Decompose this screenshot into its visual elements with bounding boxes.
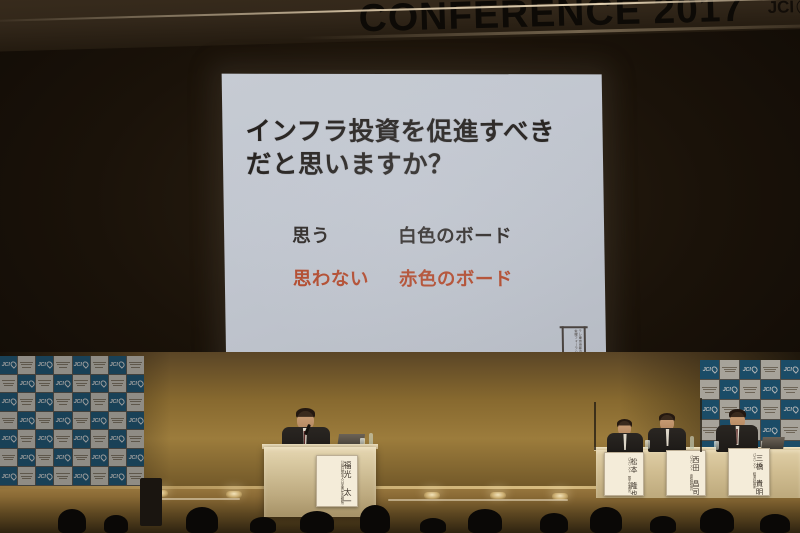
backdrop-tile-jci: JCI <box>700 360 719 379</box>
sponsor-text-lines <box>783 426 798 435</box>
slide-option-row: 思わない 赤色のボード <box>293 265 593 292</box>
jci-pin-icon <box>45 435 53 443</box>
backdrop-tile-jci: JCI <box>0 393 17 411</box>
jci-logo-text: JCI <box>92 455 100 461</box>
jci-logo-small: JCI <box>38 399 52 405</box>
jci-logo-small: JCI <box>783 407 797 413</box>
jci-logo-text: JCI <box>38 399 46 405</box>
jci-pin-icon <box>9 361 17 369</box>
jci-logo-text: JCI <box>763 427 771 433</box>
backdrop-tile-jci: JCI <box>720 380 739 399</box>
jci-pin-icon <box>81 435 89 443</box>
backdrop-tile-jci: JCI <box>109 467 126 485</box>
backdrop-tile-jci: JCI <box>740 360 759 379</box>
jci-logo-small: JCI <box>763 427 777 433</box>
jci-logo-text: JCI <box>56 381 64 387</box>
audience-head <box>700 508 734 533</box>
drinking-glass <box>714 441 719 450</box>
jci-logo-small: JCI <box>110 399 124 405</box>
jci-pin-icon <box>27 453 35 461</box>
backdrop-tile-sponsor <box>761 360 780 379</box>
nameplate-panelist-2: 西田 昌司 パネリスト 参議院議員 <box>666 450 706 496</box>
audience-row <box>0 498 800 533</box>
jci-logo-small: JCI <box>56 454 70 460</box>
backdrop-tile-jci: JCI <box>54 449 71 467</box>
backdrop-tile-sponsor <box>781 380 800 399</box>
backdrop-tile-sponsor <box>700 380 719 399</box>
backdrop-tile-sponsor <box>127 430 144 448</box>
jci-pin-icon <box>118 472 126 480</box>
drinking-glass <box>645 440 650 449</box>
audience-head <box>468 509 502 533</box>
jci-logo-text: JCI <box>743 367 751 373</box>
sponsor-text-lines <box>56 360 69 369</box>
backdrop-tile-jci: JCI <box>127 449 144 467</box>
sponsor-text-lines <box>111 453 124 462</box>
jci-pin-icon <box>770 386 778 394</box>
nameplate-title: パネリスト 国土交通省 <box>626 457 630 492</box>
backdrop-tile-jci: JCI <box>91 412 108 430</box>
jci-logo-text: JCI <box>38 362 46 368</box>
jci-pin-icon <box>99 453 107 461</box>
water-bottle <box>690 436 694 449</box>
jci-pin-icon <box>750 406 758 414</box>
jci-logo-small: JCI <box>19 454 33 460</box>
sponsor-text-lines <box>129 360 142 369</box>
backdrop-tile-jci: JCI <box>761 380 780 399</box>
sponsor-text-lines <box>93 398 106 407</box>
sponsor-text-lines <box>20 472 33 481</box>
jci-logo-small: JCI <box>74 473 88 479</box>
audience-head <box>300 511 334 533</box>
backdrop-tile-jci: JCI <box>127 375 144 393</box>
jci-pin-icon <box>136 379 144 387</box>
option-value-no: 赤色のボード <box>399 265 513 291</box>
slide-option-row: 思う 白色のボード <box>292 222 592 249</box>
jci-pin-icon <box>81 361 89 369</box>
sponsor-text-lines <box>56 435 69 444</box>
backdrop-tile-jci: JCI <box>109 393 126 411</box>
backdrop-tile-sponsor <box>109 449 126 467</box>
sponsor-text-lines <box>93 472 106 481</box>
jci-pin-icon <box>136 453 144 461</box>
slide-question: インフラ投資を促進すべき だと思いますか？ <box>245 116 586 183</box>
sponsor-text-lines <box>56 472 69 481</box>
backdrop-tile-sponsor <box>18 393 35 411</box>
jci-pin-icon <box>118 361 126 369</box>
audience-head <box>420 518 446 533</box>
jci-logo-small: JCI <box>1 473 15 479</box>
backdrop-tile-jci: JCI <box>781 360 800 379</box>
jci-logo-text: JCI <box>110 399 118 405</box>
sponsor-text-lines <box>783 385 798 394</box>
jci-logo-small: JCI <box>702 366 716 372</box>
sponsor-text-lines <box>2 416 15 425</box>
sponsor-text-lines <box>2 453 15 462</box>
jci-logo-text: JCI <box>110 362 118 368</box>
backdrop-tile-jci: JCI <box>781 400 800 419</box>
jci-logo-text: JCI <box>1 399 9 405</box>
sponsor-text-lines <box>74 453 87 462</box>
jci-pin-icon <box>118 435 126 443</box>
jci-pin-icon <box>45 472 53 480</box>
backdrop-tile-sponsor <box>0 449 17 467</box>
backdrop-tile-sponsor <box>0 412 17 430</box>
jci-pin-icon <box>9 435 17 443</box>
jci-logo: JCI <box>767 0 800 18</box>
backdrop-tile-sponsor <box>54 467 71 485</box>
jci-logo-small: JCI <box>1 436 15 442</box>
backdrop-tile-jci: JCI <box>109 430 126 448</box>
backdrop-tile-jci: JCI <box>36 430 53 448</box>
backdrop-tile-jci: JCI <box>0 430 17 448</box>
sponsor-text-lines <box>38 416 51 425</box>
jci-logo-small: JCI <box>92 454 106 460</box>
jci-pin-icon <box>45 398 53 406</box>
jci-pin-icon <box>81 472 89 480</box>
jci-logo-small: JCI <box>110 436 124 442</box>
backdrop-tile-sponsor <box>18 430 35 448</box>
jci-pin-icon <box>791 406 799 414</box>
audience-head <box>360 505 390 533</box>
sponsor-text-lines <box>111 416 124 425</box>
backdrop-tile-jci: JCI <box>36 356 53 374</box>
backdrop-tile-jci: JCI <box>109 356 126 374</box>
audience-head <box>590 507 622 533</box>
sponsor-text-lines <box>93 435 106 444</box>
audience-head <box>540 513 568 533</box>
jci-pin-icon <box>63 416 71 424</box>
jci-logo-text: JCI <box>763 387 771 393</box>
jci-logo-small: JCI <box>1 399 15 405</box>
jci-pin-icon <box>9 472 17 480</box>
jci-pin-icon <box>118 398 126 406</box>
jci-pin-icon <box>730 386 738 394</box>
jci-logo-small: JCI <box>74 436 88 442</box>
screen-surface: インフラ投資を促進すべき だと思いますか？ 思う 白色のボード 思わない 赤色の… <box>222 74 607 375</box>
jci-logo-text: JCI <box>56 418 64 424</box>
jci-pin-icon <box>27 416 35 424</box>
audience-head <box>650 516 676 533</box>
jci-logo-text: JCI <box>56 455 64 461</box>
projection-screen: インフラ投資を促進すべき だと思いますか？ 思う 白色のボード 思わない 赤色の… <box>222 74 607 375</box>
jci-pin-icon <box>770 426 778 434</box>
audience-head <box>186 507 218 533</box>
sponsor-text-lines <box>74 379 87 388</box>
jci-logo-text: JCI <box>74 473 82 479</box>
backdrop-tile-sponsor <box>127 356 144 374</box>
backdrop-tile-sponsor <box>109 375 126 393</box>
jci-logo-text: JCI <box>128 418 136 424</box>
backdrop-tile-sponsor <box>36 412 53 430</box>
nameplate-panelist-1: 松本 隆也 パネリスト 国土交通省 <box>604 452 644 496</box>
backdrop-tile-jci: JCI <box>73 430 90 448</box>
jci-logo-small: JCI <box>56 380 70 386</box>
jci-logo-text: JCI <box>19 418 27 424</box>
jci-logo-text: JCI <box>92 418 100 424</box>
jci-logo-small: JCI <box>128 454 142 460</box>
backdrop-tile-sponsor <box>73 449 90 467</box>
backdrop-tile-jci: JCI <box>700 400 719 419</box>
backdrop-tile-sponsor <box>109 412 126 430</box>
jci-pin-icon <box>99 416 107 424</box>
sponsor-text-lines <box>38 453 51 462</box>
jci-logo-small: JCI <box>763 387 777 393</box>
jci-logo-small: JCI <box>38 362 52 368</box>
slide-question-line2: だと思いますか？ <box>246 149 587 183</box>
jci-logo-small: JCI <box>92 417 106 423</box>
audience-head <box>58 509 86 533</box>
jci-logo-small: JCI <box>110 473 124 479</box>
sponsor-text-lines <box>20 398 33 407</box>
jci-pin-icon <box>81 398 89 406</box>
sponsor-text-lines <box>722 365 737 374</box>
option-label-yes: 思う <box>292 222 398 248</box>
backdrop-tile-jci: JCI <box>0 467 17 485</box>
backdrop-tile-sponsor <box>36 375 53 393</box>
slide-question-line1: インフラ投資を促進すべき <box>245 116 586 150</box>
jci-logo-text: JCI <box>783 367 791 373</box>
backdrop-tile-sponsor <box>18 467 35 485</box>
backdrop-tile-jci: JCI <box>54 412 71 430</box>
sponsor-text-lines <box>763 365 778 374</box>
backdrop-tile-jci: JCI <box>36 393 53 411</box>
sponsor-text-lines <box>20 435 33 444</box>
jci-logo-small: JCI <box>74 362 88 368</box>
option-label-no: 思わない <box>293 265 399 291</box>
jci-logo-small: JCI <box>56 417 70 423</box>
jci-logo-text: JCI <box>702 367 710 373</box>
audience-head <box>104 515 128 533</box>
backdrop-tile-jci: JCI <box>127 412 144 430</box>
sponsor-text-lines <box>129 435 142 444</box>
jci-pin-icon <box>710 365 718 373</box>
slide-content: インフラ投資を促進すべき だと思いますか？ 思う 白色のボード 思わない 赤色の… <box>222 74 607 375</box>
jci-logo-text: JCI <box>92 381 100 387</box>
jci-logo-small: JCI <box>783 366 797 372</box>
backdrop-tile-jci: JCI <box>73 393 90 411</box>
sponsor-text-lines <box>702 385 717 394</box>
jci-logo-text: JCI <box>110 436 118 442</box>
sponsor-text-lines <box>743 385 758 394</box>
sponsor-text-lines <box>129 398 142 407</box>
backdrop-tile-sponsor <box>36 449 53 467</box>
backdrop-tile-jci: JCI <box>91 375 108 393</box>
audience-head <box>250 517 276 533</box>
sponsor-text-lines <box>38 379 51 388</box>
backdrop-tile-sponsor <box>54 393 71 411</box>
backdrop-tile-sponsor <box>91 393 108 411</box>
backdrop-tile-sponsor <box>73 375 90 393</box>
backdrop-tile-sponsor <box>91 356 108 374</box>
jci-logo-small: JCI <box>38 473 52 479</box>
jci-logo-small: JCI <box>19 380 33 386</box>
jci-logo-text: JCI <box>128 455 136 461</box>
jci-pin-icon <box>710 406 718 414</box>
backdrop-tile-sponsor <box>91 430 108 448</box>
jci-logo-text: JCI <box>702 407 710 413</box>
backdrop-tile-sponsor <box>761 400 780 419</box>
backdrop-tile-sponsor <box>54 356 71 374</box>
nameplate-title: パネリスト 参議院議員 <box>688 455 692 490</box>
backdrop-tile-sponsor <box>18 356 35 374</box>
sponsor-text-lines <box>74 416 87 425</box>
backdrop-tile-jci: JCI <box>73 467 90 485</box>
backdrop-tile-sponsor <box>73 412 90 430</box>
backdrop-tile-jci: JCI <box>18 375 35 393</box>
jci-logo-text: JCI <box>74 399 82 405</box>
jci-pin-icon <box>45 361 53 369</box>
backdrop-tile-jci: JCI <box>91 449 108 467</box>
jci-logo-small: JCI <box>110 362 124 368</box>
jci-logo-text: JCI <box>1 436 9 442</box>
jci-pin-icon <box>63 453 71 461</box>
jci-logo-small: JCI <box>19 417 33 423</box>
mic-stand <box>700 398 702 452</box>
sponsor-text-lines <box>56 398 69 407</box>
audience-head <box>760 514 790 533</box>
nameplate-panelist-3: 三橋 貴明 パネリスト 経済評論家 <box>728 448 770 496</box>
sponsor-text-lines <box>2 379 15 388</box>
jci-logo-text: JCI <box>723 387 731 393</box>
jci-pin-icon <box>99 379 107 387</box>
jci-logo-text: JCI <box>767 0 794 18</box>
jci-pin-icon <box>750 365 758 373</box>
jci-pin-icon <box>63 379 71 387</box>
sponsor-text-lines <box>20 360 33 369</box>
jci-logo-small: JCI <box>743 366 757 372</box>
footlight <box>226 491 242 498</box>
jci-logo-text: JCI <box>38 473 46 479</box>
jci-logo-text: JCI <box>783 407 791 413</box>
jci-logo-small: JCI <box>723 387 737 393</box>
jci-logo-text: JCI <box>128 381 136 387</box>
jci-pin-icon <box>136 416 144 424</box>
backdrop-tile-sponsor <box>720 360 739 379</box>
jci-logo-small: JCI <box>702 407 716 413</box>
sponsor-text-lines <box>93 360 106 369</box>
jci-logo-text: JCI <box>38 436 46 442</box>
slide-options: 思う 白色のボード 思わない 赤色のボード <box>292 222 593 309</box>
option-value-yes: 白色のボード <box>398 222 512 248</box>
backdrop-tile-jci: JCI <box>54 375 71 393</box>
jci-logo-small: JCI <box>38 436 52 442</box>
sponsor-text-lines <box>702 426 717 435</box>
jci-pin-icon <box>27 379 35 387</box>
jci-pin-icon <box>9 398 17 406</box>
backdrop-tile-sponsor <box>54 430 71 448</box>
nameplate-title: パネリスト 経済評論家 <box>751 453 755 488</box>
jci-logo-text: JCI <box>1 473 9 479</box>
jci-logo-text: JCI <box>110 473 118 479</box>
backdrop-tile-sponsor <box>0 375 17 393</box>
jci-logo-text: JCI <box>19 455 27 461</box>
backdrop-tile-sponsor <box>127 393 144 411</box>
sponsor-text-lines <box>763 406 778 415</box>
jci-logo-text: JCI <box>74 436 82 442</box>
backdrop-tile-jci: JCI <box>18 449 35 467</box>
jci-logo-text: JCI <box>1 362 9 368</box>
conference-photo: CONFERENCE 2017 JCI インフラ投資を促進すべき だと思いますか… <box>0 0 800 533</box>
jci-logo-text: JCI <box>19 381 27 387</box>
backdrop-tile-sponsor <box>91 467 108 485</box>
jci-logo-small: JCI <box>74 399 88 405</box>
mic-stand <box>594 402 596 450</box>
sponsor-text-lines <box>111 379 124 388</box>
backdrop-tile-sponsor <box>740 380 759 399</box>
backdrop-tile-jci: JCI <box>36 467 53 485</box>
jci-logo-small: JCI <box>92 380 106 386</box>
jci-logo-small: JCI <box>128 380 142 386</box>
backdrop-tile-jci: JCI <box>73 356 90 374</box>
backdrop-tile-jci: JCI <box>18 412 35 430</box>
jci-logo-small: JCI <box>128 417 142 423</box>
backdrop-tile-jci: JCI <box>0 356 17 374</box>
jci-logo-text: JCI <box>74 362 82 368</box>
jci-logo-small: JCI <box>1 362 15 368</box>
